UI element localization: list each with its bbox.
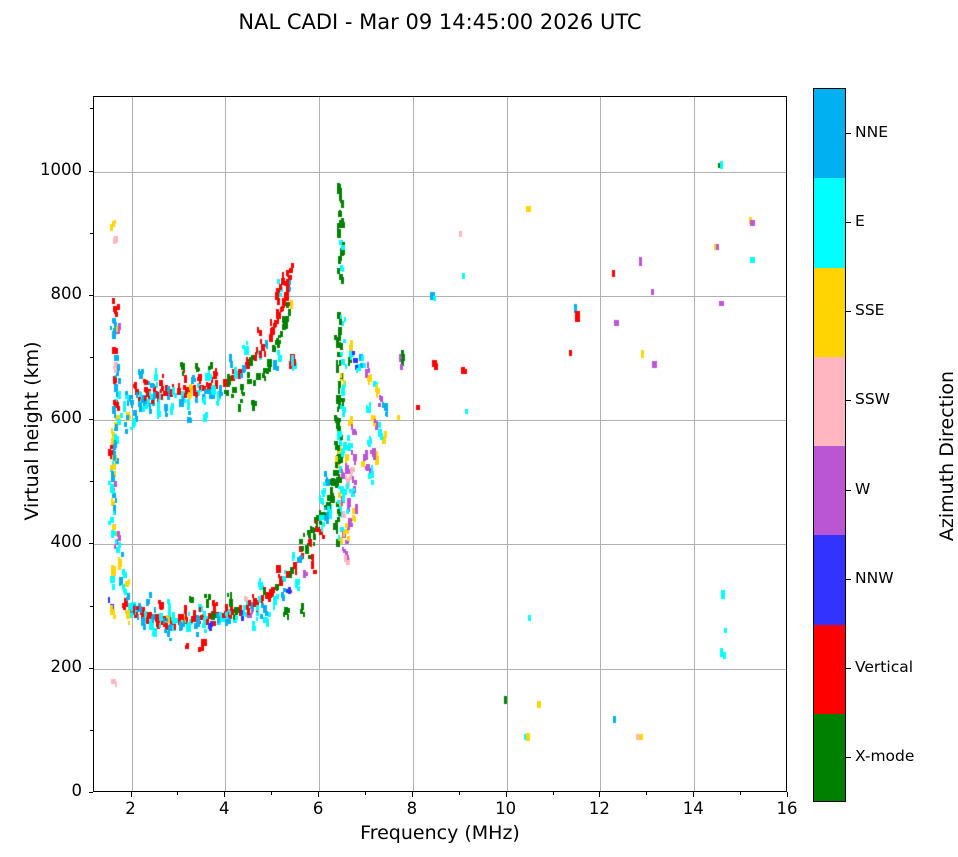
colorbar-tick — [846, 757, 851, 758]
colorbar-tick — [846, 311, 851, 312]
x-tick — [224, 792, 225, 797]
colorbar-label-sse: SSE — [855, 301, 884, 319]
colorbar-segment-x-mode — [814, 714, 845, 802]
y-tick-minor — [90, 730, 93, 731]
ionogram-scatter-canvas — [94, 97, 787, 792]
colorbar-segment-w — [814, 446, 845, 536]
x-tick — [412, 792, 413, 797]
colorbar-segment-nnw — [814, 535, 845, 625]
y-tick-minor — [90, 108, 93, 109]
colorbar-segment-nne — [814, 89, 845, 179]
x-tick-label: 8 — [382, 799, 442, 818]
ionogram-figure: NAL CADI - Mar 09 14:45:00 2026 UTC 2468… — [0, 0, 958, 857]
y-tick — [89, 668, 94, 669]
colorbar-label-e: E — [855, 212, 865, 230]
y-tick — [89, 543, 94, 544]
colorbar-tick — [846, 133, 851, 134]
x-tick-minor — [177, 792, 178, 795]
plot-area — [93, 96, 787, 792]
y-tick-label: 0 — [0, 781, 82, 800]
colorbar-label-w: W — [855, 480, 870, 498]
x-tick-label: 2 — [101, 799, 161, 818]
y-axis-label: Virtual height (km) — [21, 151, 43, 711]
x-tick-label: 6 — [288, 799, 348, 818]
x-tick — [506, 792, 507, 797]
x-tick — [787, 792, 788, 797]
x-tick-label: 10 — [476, 799, 536, 818]
x-tick-minor — [740, 792, 741, 795]
colorbar-label-nnw: NNW — [855, 569, 894, 587]
x-axis-label: Frequency (MHz) — [93, 822, 787, 844]
x-tick-label: 4 — [194, 799, 254, 818]
colorbar-tick — [846, 579, 851, 580]
x-tick-minor — [646, 792, 647, 795]
y-tick — [89, 171, 94, 172]
colorbar — [813, 88, 846, 802]
x-tick-label: 12 — [569, 799, 629, 818]
y-tick — [89, 419, 94, 420]
colorbar-tick — [846, 668, 851, 669]
colorbar-tick — [846, 490, 851, 491]
x-tick-minor — [459, 792, 460, 795]
x-tick-label: 14 — [663, 799, 723, 818]
x-tick — [599, 792, 600, 797]
colorbar-segment-vertical — [814, 625, 845, 715]
colorbar-segment-ssw — [814, 357, 845, 447]
colorbar-title: Azimuth Direction — [936, 246, 958, 666]
y-tick — [89, 792, 94, 793]
colorbar-label-ssw: SSW — [855, 390, 890, 408]
x-tick — [131, 792, 132, 797]
x-tick — [693, 792, 694, 797]
colorbar-segment-sse — [814, 268, 845, 358]
y-tick-minor — [90, 357, 93, 358]
page-title: NAL CADI - Mar 09 14:45:00 2026 UTC — [0, 10, 880, 34]
colorbar-tick — [846, 222, 851, 223]
colorbar-segment-e — [814, 178, 845, 268]
y-tick — [89, 295, 94, 296]
x-tick-label: 16 — [757, 799, 817, 818]
x-tick — [318, 792, 319, 797]
colorbar-label-vertical: Vertical — [855, 658, 913, 676]
x-tick-minor — [271, 792, 272, 795]
y-tick-minor — [90, 481, 93, 482]
colorbar-label-nne: NNE — [855, 123, 888, 141]
x-tick-minor — [553, 792, 554, 795]
x-tick-minor — [365, 792, 366, 795]
colorbar-tick — [846, 400, 851, 401]
y-tick-minor — [90, 233, 93, 234]
colorbar-label-x-mode: X-mode — [855, 747, 914, 765]
y-tick-minor — [90, 606, 93, 607]
